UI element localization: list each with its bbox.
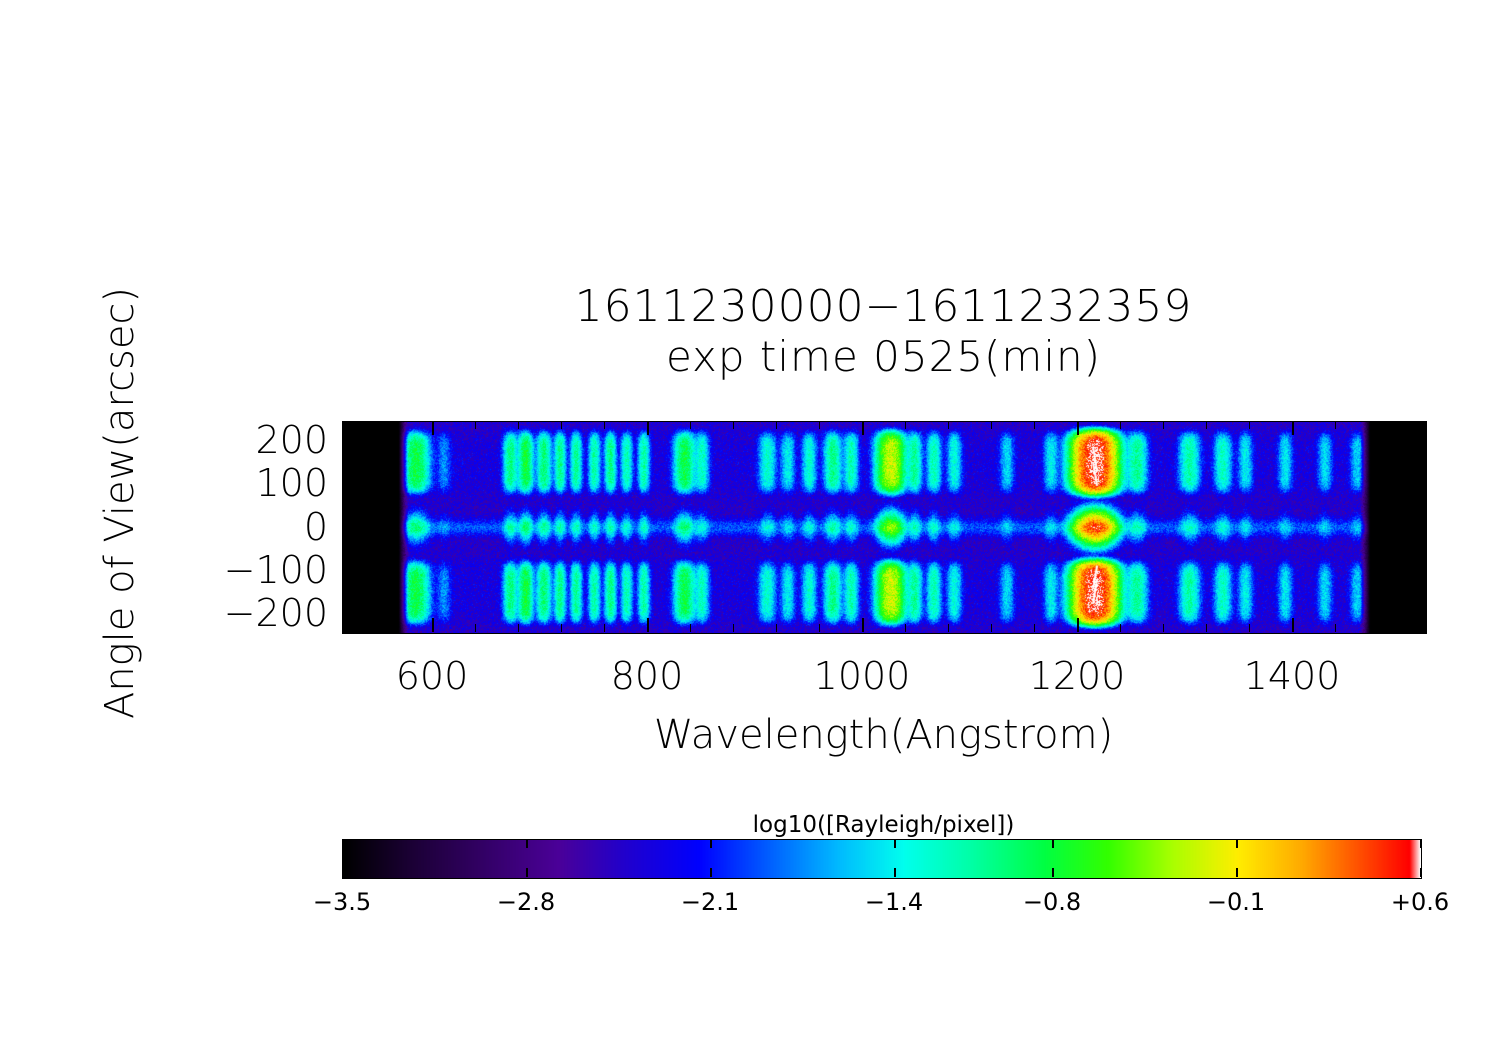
y-tick-label: 0: [152, 505, 328, 549]
title-line-2: exp time 0525(min): [342, 332, 1425, 382]
colorbar-tick-label: −2.8: [497, 888, 555, 916]
colorbar-tick: [342, 839, 344, 848]
spectrogram-figure: 1611230000−1611232359 exp time 0525(min)…: [0, 0, 1497, 1058]
colorbar-tick: [1236, 839, 1238, 848]
colorbar-tick: [710, 868, 712, 877]
y-tick-label: 200: [152, 418, 328, 462]
colorbar-tick: [526, 868, 528, 877]
plot-title: 1611230000−1611232359 exp time 0525(min): [342, 282, 1425, 382]
colorbar-tick: [710, 839, 712, 848]
colorbar-tick-label: −2.1: [681, 888, 739, 916]
colorbar-tick-label: +0.6: [1391, 888, 1449, 916]
spectrogram-heatmap: [343, 422, 1426, 633]
colorbar-tick: [1420, 839, 1422, 848]
colorbar-tick: [526, 839, 528, 848]
y-tick-label: −100: [152, 548, 328, 592]
colorbar-tick: [1052, 868, 1054, 877]
x-tick-label: 1000: [814, 654, 911, 698]
colorbar-tick: [894, 839, 896, 848]
colorbar-tick-label: −0.1: [1207, 888, 1265, 916]
x-axis-label: Wavelength(Angstrom): [342, 712, 1425, 758]
colorbar-tick: [894, 868, 896, 877]
spectrogram-plot-area: [342, 421, 1427, 634]
colorbar-title: log10([Rayleigh/pixel]): [342, 812, 1425, 838]
title-line-1: 1611230000−1611232359: [342, 282, 1425, 332]
colorbar-tick: [1420, 868, 1422, 877]
x-tick-label: 600: [396, 654, 469, 698]
x-tick-label: 800: [611, 654, 684, 698]
colorbar-tick: [1236, 868, 1238, 877]
colorbar-tick-label: −3.5: [313, 888, 371, 916]
x-tick-label: 1400: [1244, 654, 1341, 698]
colorbar-tick: [1052, 839, 1054, 848]
colorbar-tick-label: −0.8: [1023, 888, 1081, 916]
x-tick-label: 1200: [1029, 654, 1126, 698]
colorbar: [342, 839, 1422, 879]
y-tick-label: −200: [152, 591, 328, 635]
colorbar-tick: [342, 868, 344, 877]
y-axis-label: Angle of View(arcsec): [97, 273, 143, 733]
colorbar-tick-label: −1.4: [865, 888, 923, 916]
y-tick-label: 100: [152, 461, 328, 505]
colorbar-gradient: [343, 840, 1421, 878]
